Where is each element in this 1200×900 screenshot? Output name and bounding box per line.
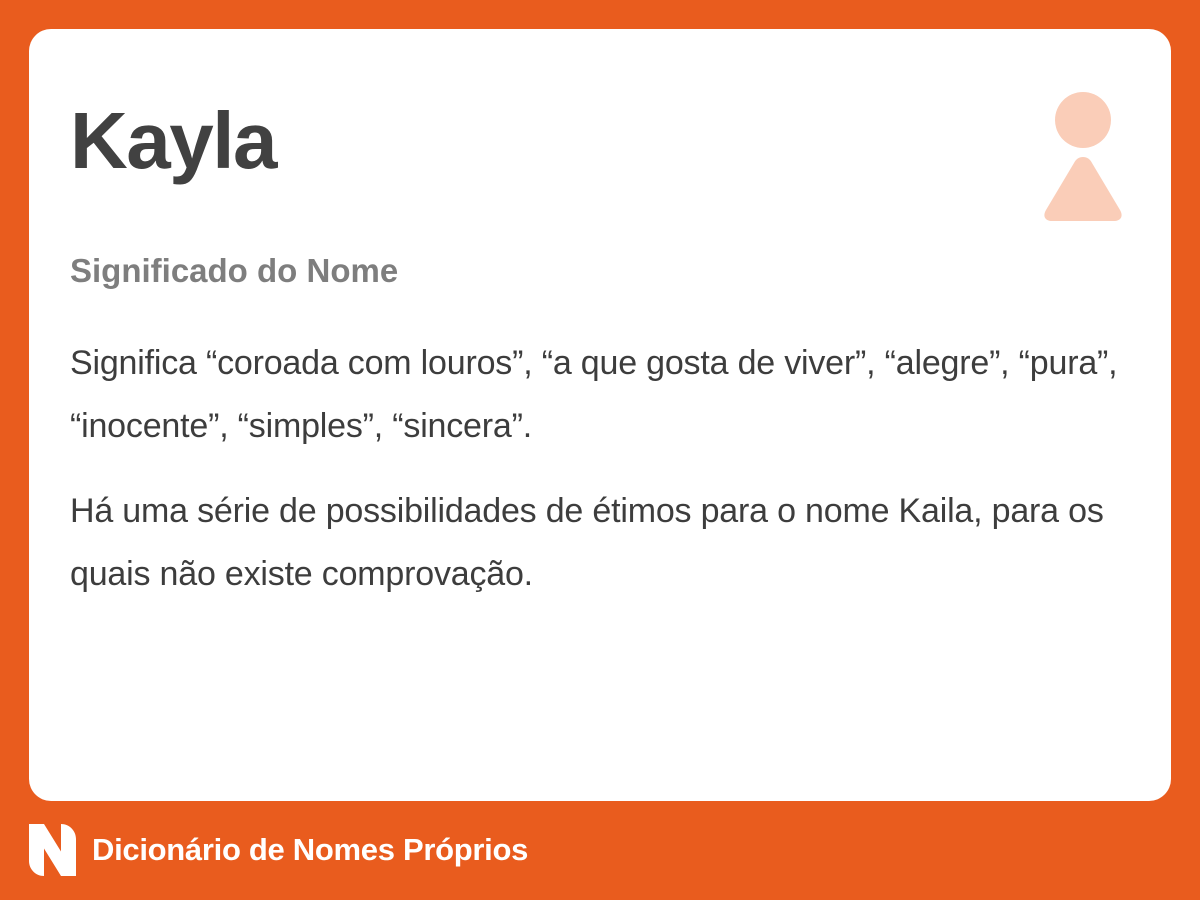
person-icon (1035, 71, 1131, 221)
meaning-paragraph: Há uma série de possibilidades de étimos… (70, 480, 1125, 606)
site-footer: Dicionário de Nomes Próprios (29, 822, 528, 878)
brand-name: Dicionário de Nomes Próprios (92, 834, 528, 867)
meaning-body: Significa “coroada com louros”, “a que g… (70, 332, 1125, 606)
name-card: Kayla Significado do Nome Significa “cor… (29, 29, 1171, 801)
brand-n-logo-icon (29, 824, 76, 876)
meaning-paragraph: Significa “coroada com louros”, “a que g… (70, 332, 1125, 458)
section-subtitle: Significado do Nome (70, 251, 398, 291)
page-title: Kayla (70, 101, 276, 181)
